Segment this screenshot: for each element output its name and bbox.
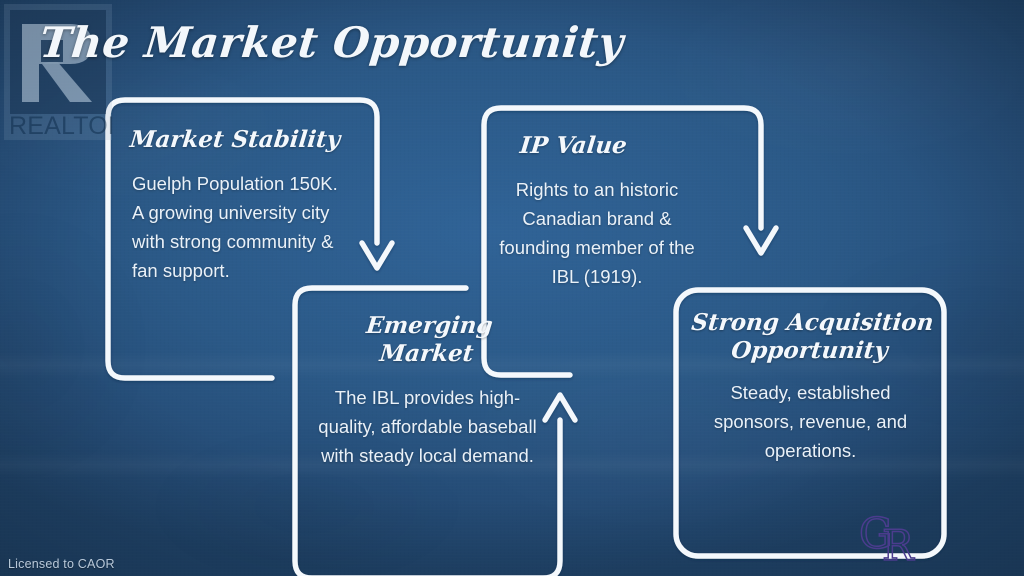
arrow-head-ip-to-acquisition (746, 228, 776, 253)
slide-title: The Market Opportunity (37, 18, 625, 67)
card-body-market-stability: Guelph Population 150K. A growing univer… (132, 170, 338, 285)
licensed-to-label: Licensed to CAOR (8, 557, 115, 571)
card-body-ip-value: Rights to an historic Canadian brand & f… (492, 176, 702, 291)
card-body-emerging-market: The IBL provides high-quality, affordabl… (309, 384, 547, 471)
slide-canvas: REALTOR® The Market Opportunity Market S… (0, 0, 1024, 576)
card-heading-strong-acquisition: Strong Acquisition Opportunity (684, 309, 938, 365)
card-body-strong-acquisition: Steady, established sponsors, revenue, a… (691, 379, 931, 466)
card-heading-ip-value: IP Value (519, 132, 712, 160)
monogram-letter-r: R (882, 521, 915, 566)
card-heading-market-stability: Market Stability (129, 126, 378, 154)
realtor-wordmark: REALTOR® (9, 112, 112, 140)
gr-monogram-logo: G R (858, 508, 928, 566)
